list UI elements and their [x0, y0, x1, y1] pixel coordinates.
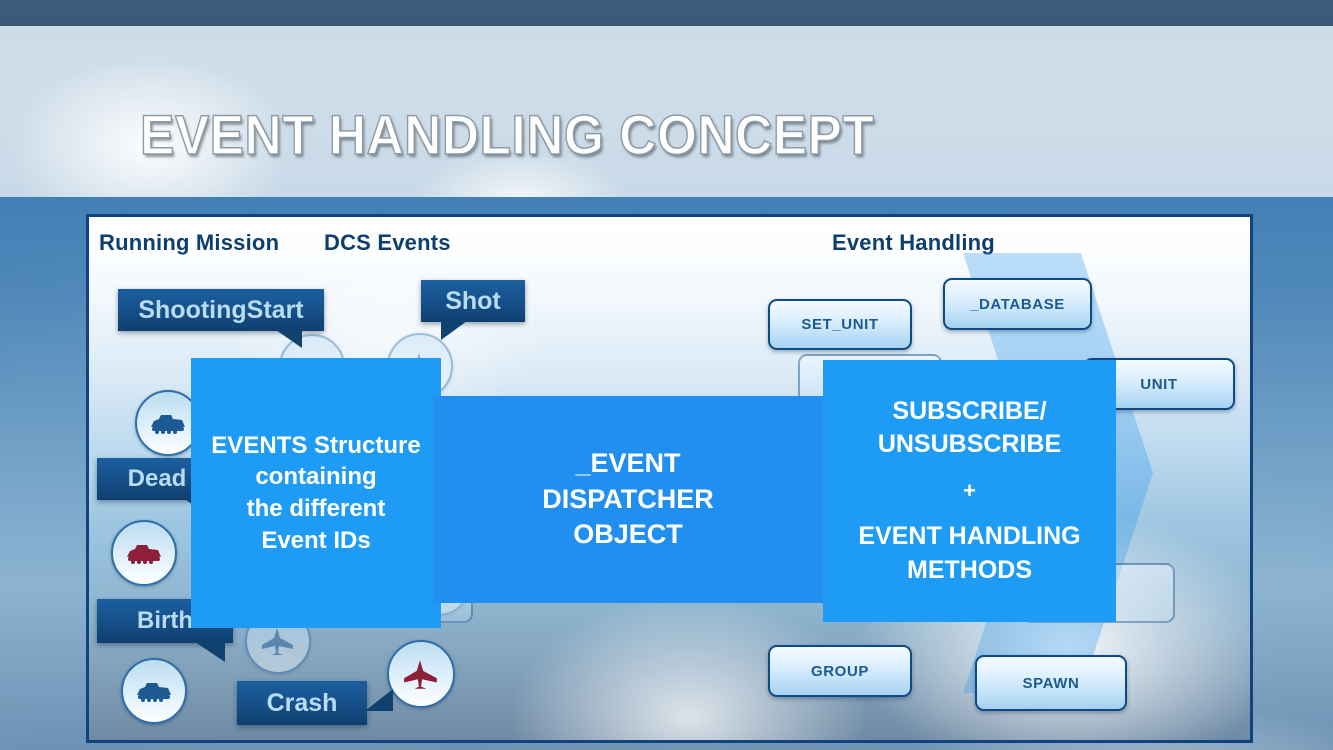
- callout-label: Crash: [267, 689, 338, 718]
- callout-shootingstart[interactable]: ShootingStart: [118, 289, 324, 331]
- diagram-panel: Running Mission DCS Events Event Handlin…: [86, 214, 1253, 743]
- slide-canvas: EVENT HANDLING CONCEPT Running Mission D…: [0, 0, 1333, 750]
- overlay-line: EVENTS Structure: [211, 430, 420, 462]
- button-label: SPAWN: [1023, 675, 1080, 692]
- column-header-dcs-events: DCS Events: [324, 230, 451, 256]
- overlay-line: DISPATCHER: [542, 482, 714, 518]
- callout-label: ShootingStart: [138, 296, 303, 325]
- button-label: UNIT: [1140, 376, 1177, 393]
- column-header-event-handling: Event Handling: [832, 230, 995, 256]
- overlay-line: METHODS: [907, 554, 1032, 588]
- button-label: GROUP: [811, 663, 869, 680]
- overlay-line: UNSUBSCRIBE: [878, 428, 1061, 462]
- overlay-line: containing: [255, 461, 376, 493]
- button-group[interactable]: GROUP: [768, 645, 912, 697]
- callout-label: Dead: [128, 465, 187, 493]
- top-edge-strip: [0, 0, 1333, 26]
- overlay-events-structure: EVENTS Structure containing the differen…: [191, 358, 441, 628]
- overlay-line: Event IDs: [261, 525, 370, 557]
- button-label: _DATABASE: [970, 296, 1065, 313]
- overlay-line: OBJECT: [573, 517, 683, 553]
- red-jet-circle-icon: [387, 640, 455, 708]
- button-set-unit[interactable]: SET_UNIT: [768, 299, 912, 350]
- overlay-event-dispatcher-object: _EVENT DISPATCHER OBJECT: [433, 396, 823, 603]
- page-title: EVENT HANDLING CONCEPT: [140, 102, 874, 167]
- callout-shot[interactable]: Shot: [421, 280, 525, 322]
- button-label: SET_UNIT: [801, 316, 878, 333]
- red-tank-circle-icon: [111, 520, 177, 586]
- tank-circle-icon: [121, 658, 187, 724]
- button-spawn[interactable]: SPAWN: [975, 655, 1127, 711]
- callout-crash[interactable]: Crash: [237, 681, 367, 725]
- overlay-line: SUBSCRIBE/: [892, 395, 1046, 429]
- overlay-subscribe-and-methods: SUBSCRIBE/ UNSUBSCRIBE + EVENT HANDLING …: [823, 360, 1116, 622]
- button-database[interactable]: _DATABASE: [943, 278, 1092, 330]
- title-band: EVENT HANDLING CONCEPT: [0, 26, 1333, 197]
- overlay-line: the different: [247, 493, 386, 525]
- column-header-running-mission: Running Mission: [99, 230, 279, 256]
- callout-label: Shot: [445, 287, 501, 316]
- overlay-line: EVENT HANDLING: [858, 520, 1080, 554]
- overlay-plus-symbol: +: [963, 476, 976, 506]
- overlay-line: _EVENT: [575, 446, 680, 482]
- callout-label: Birth: [137, 607, 193, 635]
